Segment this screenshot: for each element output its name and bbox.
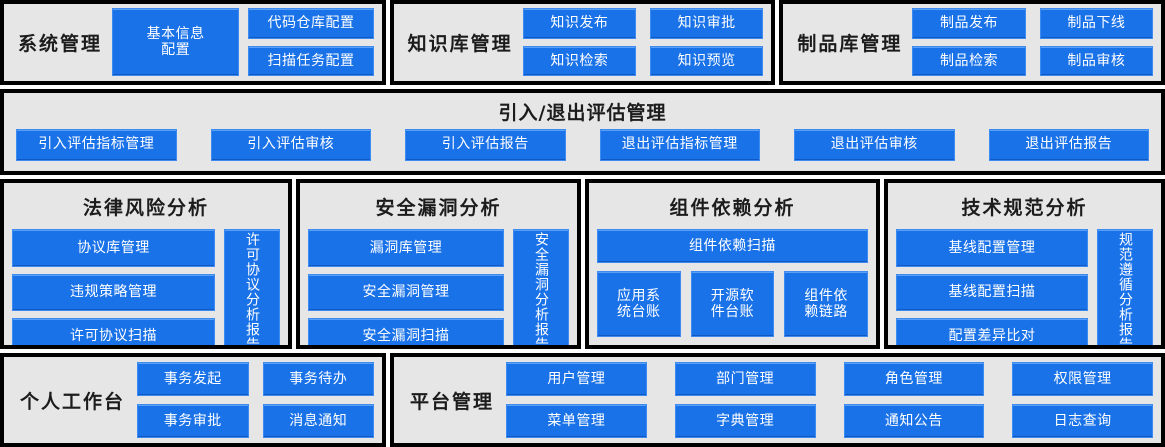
button-exit-assessment-review[interactable]: 退出评估审核 — [794, 129, 955, 161]
button-knowledge-approval[interactable]: 知识审批 — [650, 8, 763, 39]
button-artifact-publish[interactable]: 制品发布 — [912, 8, 1025, 39]
button-exit-assessment-indicator-management[interactable]: 退出评估指标管理 — [600, 129, 761, 161]
button-intro-assessment-report[interactable]: 引入评估报告 — [405, 129, 566, 161]
button-component-dependency-chain[interactable]: 组件依 赖链路 — [784, 271, 868, 337]
panel-title-personal-workbench: 个人工作台 — [20, 387, 125, 414]
button-exit-assessment-report[interactable]: 退出评估报告 — [989, 129, 1150, 161]
button-task-initiate[interactable]: 事务发起 — [137, 362, 248, 396]
button-basic-info-config[interactable]: 基本信息 配置 — [112, 8, 239, 76]
button-user-management[interactable]: 用户管理 — [506, 362, 647, 396]
button-notification-announcement[interactable]: 通知公告 — [844, 404, 985, 438]
row-workbench-platform: 个人工作台 事务发起 事务待办 事务审批 消息通知 平台管理 用户管理 部门管理… — [0, 353, 1165, 447]
button-scan-task-config[interactable]: 扫描任务配置 — [248, 46, 373, 77]
panel-title-security-vulnerability-analysis: 安全漏洞分析 — [308, 187, 569, 229]
row-assessment-management: 引入/退出评估管理 引入评估指标管理 引入评估审核 引入评估报告 退出评估指标管… — [0, 89, 1165, 176]
button-artifact-offline[interactable]: 制品下线 — [1040, 8, 1153, 39]
button-application-system-ledger[interactable]: 应用系 统台账 — [597, 271, 681, 337]
panel-system-management: 系统管理 基本信息 配置 代码仓库配置 扫描任务配置 — [0, 0, 386, 85]
button-license-library-management[interactable]: 协议库管理 — [12, 229, 215, 266]
button-component-dependency-scan[interactable]: 组件依赖扫描 — [597, 229, 868, 263]
panel-personal-workbench: 个人工作台 事务发起 事务待办 事务审批 消息通知 — [0, 353, 386, 447]
panel-legal-risk-analysis: 法律风险分析 协议库管理 违规策略管理 许可协议扫描 许可协议分析报告 — [0, 179, 292, 349]
panel-title-technical-specification-analysis: 技术规范分析 — [896, 187, 1153, 229]
button-vulnerability-library-management[interactable]: 漏洞库管理 — [308, 229, 504, 266]
button-security-vulnerability-analysis-report[interactable]: 安全漏洞分析报告 — [513, 229, 569, 349]
panel-platform-management: 平台管理 用户管理 部门管理 角色管理 权限管理 菜单管理 字典管理 通知公告 … — [390, 353, 1165, 447]
panel-security-vulnerability-analysis: 安全漏洞分析 漏洞库管理 安全漏洞管理 安全漏洞扫描 安全漏洞分析报告 — [296, 179, 581, 349]
row-top-management: 系统管理 基本信息 配置 代码仓库配置 扫描任务配置 知识库管理 知识发布 知识… — [0, 0, 1165, 85]
panel-title-legal-risk-analysis: 法律风险分析 — [12, 187, 280, 229]
panel-knowledge-base-management: 知识库管理 知识发布 知识审批 知识检索 知识预览 — [390, 0, 776, 85]
button-specification-compliance-analysis-report[interactable]: 规范遵循分析报告 — [1097, 229, 1153, 349]
button-intro-assessment-indicator-management[interactable]: 引入评估指标管理 — [16, 129, 177, 161]
button-opensource-software-ledger[interactable]: 开源软 件台账 — [691, 271, 775, 337]
panel-title-component-dependency-analysis: 组件依赖分析 — [597, 187, 868, 229]
panel-component-dependency-analysis: 组件依赖分析 组件依赖扫描 应用系 统台账 开源软 件台账 组件依 赖链路 — [585, 179, 880, 349]
dashboard-root: 系统管理 基本信息 配置 代码仓库配置 扫描任务配置 知识库管理 知识发布 知识… — [0, 0, 1165, 447]
button-knowledge-preview[interactable]: 知识预览 — [650, 46, 763, 77]
panel-intro-exit-assessment: 引入/退出评估管理 引入评估指标管理 引入评估审核 引入评估报告 退出评估指标管… — [0, 89, 1165, 176]
button-knowledge-search[interactable]: 知识检索 — [523, 46, 636, 77]
button-menu-management[interactable]: 菜单管理 — [506, 404, 647, 438]
panel-title-intro-exit-assessment: 引入/退出评估管理 — [12, 96, 1153, 129]
button-license-agreement-scan[interactable]: 许可协议扫描 — [12, 318, 215, 349]
button-artifact-search[interactable]: 制品检索 — [912, 46, 1025, 77]
panel-title-artifact-repo-management: 制品库管理 — [797, 29, 902, 56]
button-config-difference-comparison[interactable]: 配置差异比对 — [896, 318, 1088, 349]
button-security-vulnerability-scan[interactable]: 安全漏洞扫描 — [308, 318, 504, 349]
button-security-vulnerability-management[interactable]: 安全漏洞管理 — [308, 274, 504, 311]
button-code-repo-config[interactable]: 代码仓库配置 — [248, 8, 373, 39]
button-license-analysis-report[interactable]: 许可协议分析报告 — [224, 229, 280, 349]
panel-artifact-repo-management: 制品库管理 制品发布 制品下线 制品检索 制品审核 — [779, 0, 1165, 85]
panel-title-knowledge-base-management: 知识库管理 — [408, 29, 513, 56]
button-intro-assessment-review[interactable]: 引入评估审核 — [211, 129, 372, 161]
button-department-management[interactable]: 部门管理 — [675, 362, 816, 396]
button-task-todo[interactable]: 事务待办 — [263, 362, 375, 396]
button-violation-policy-management[interactable]: 违规策略管理 — [12, 274, 215, 311]
button-baseline-config-management[interactable]: 基线配置管理 — [896, 229, 1088, 266]
button-role-management[interactable]: 角色管理 — [844, 362, 985, 396]
button-artifact-review[interactable]: 制品审核 — [1040, 46, 1153, 77]
button-baseline-config-scan[interactable]: 基线配置扫描 — [896, 274, 1088, 311]
button-permission-management[interactable]: 权限管理 — [1012, 362, 1153, 396]
row-analysis-modules: 法律风险分析 协议库管理 违规策略管理 许可协议扫描 许可协议分析报告 安全漏洞… — [0, 179, 1165, 349]
panel-title-platform-management: 平台管理 — [410, 387, 494, 414]
panel-technical-specification-analysis: 技术规范分析 基线配置管理 基线配置扫描 配置差异比对 规范遵循分析报告 — [884, 179, 1165, 349]
button-dictionary-management[interactable]: 字典管理 — [675, 404, 816, 438]
panel-title-system-management: 系统管理 — [18, 29, 102, 56]
button-knowledge-publish[interactable]: 知识发布 — [523, 8, 636, 39]
button-message-notification[interactable]: 消息通知 — [263, 404, 375, 438]
button-log-query[interactable]: 日志查询 — [1012, 404, 1153, 438]
button-task-approval[interactable]: 事务审批 — [137, 404, 248, 438]
